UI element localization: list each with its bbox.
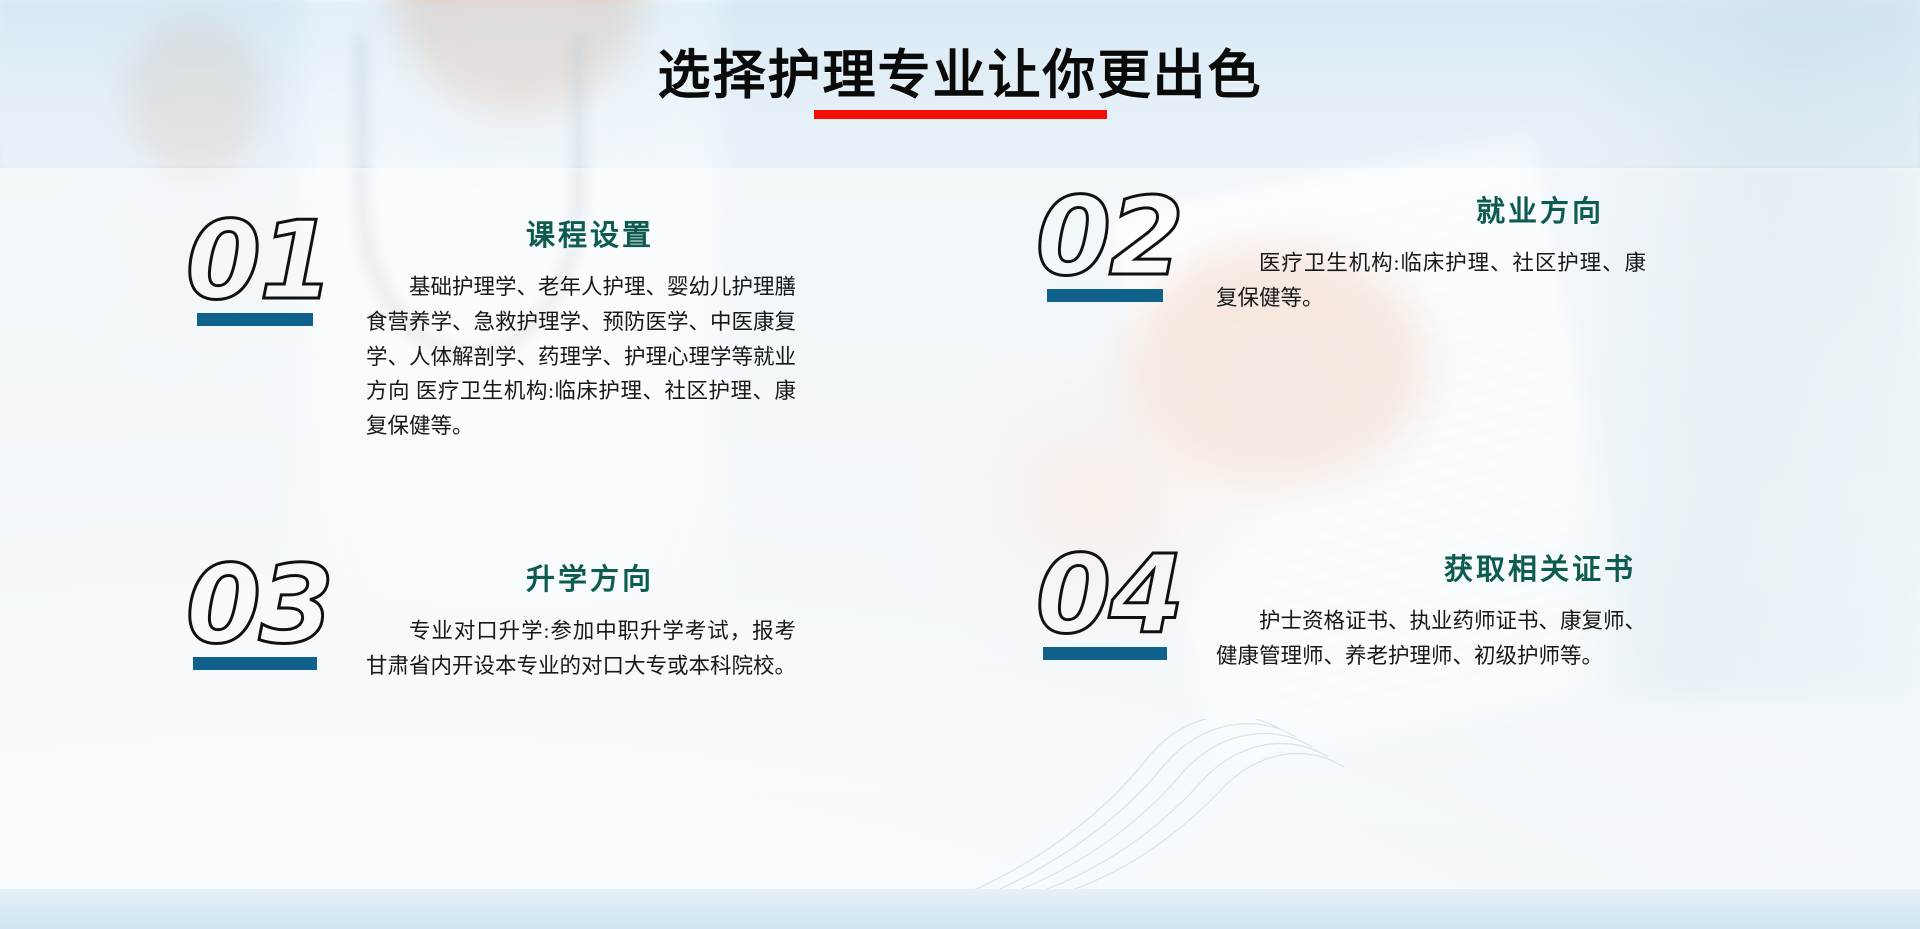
section-text-block-04: 获取相关证书 护士资格证书、执业药师证书、康复师、健康管理师、养老护理师、初级护… bbox=[1216, 546, 1760, 674]
footer-band bbox=[0, 889, 1920, 929]
title-underline-bar bbox=[814, 110, 1107, 119]
section-number-01: 01 bbox=[150, 212, 360, 311]
infographic-poster: 选择护理专业让你更出色 01 课程设置 基础护理学、老年人护理、婴幼儿护理膳食营… bbox=[0, 0, 1920, 929]
section-body-04: 护士资格证书、执业药师证书、康复师、健康管理师、养老护理师、初级护师等。 bbox=[1216, 604, 1646, 674]
title-wrapper: 选择护理专业让你更出色 bbox=[0, 48, 1920, 119]
section-number-04: 04 bbox=[1000, 546, 1210, 645]
section-card-01: 01 课程设置 基础护理学、老年人护理、婴幼儿护理膳食营养学、急救护理学、预防医… bbox=[150, 212, 910, 444]
page-title: 选择护理专业让你更出色 bbox=[658, 48, 1263, 104]
section-text-block-03: 升学方向 专业对口升学:参加中职升学考试，报考甘肃省内开设本专业的对口大专或本科… bbox=[366, 556, 910, 684]
section-number-block-02: 02 bbox=[1000, 188, 1210, 302]
section-card-04: 04 获取相关证书 护士资格证书、执业药师证书、康复师、健康管理师、养老护理师、… bbox=[1000, 546, 1760, 674]
section-heading-02: 就业方向 bbox=[1216, 188, 1760, 230]
section-heading-01: 课程设置 bbox=[366, 212, 910, 254]
section-body-03: 专业对口升学:参加中职升学考试，报考甘肃省内开设本专业的对口大专或本科院校。 bbox=[366, 614, 796, 684]
header: 选择护理专业让你更出色 bbox=[0, 0, 1920, 168]
section-body-01: 基础护理学、老年人护理、婴幼儿护理膳食营养学、急救护理学、预防医学、中医康复学、… bbox=[366, 270, 796, 444]
section-text-block-01: 课程设置 基础护理学、老年人护理、婴幼儿护理膳食营养学、急救护理学、预防医学、中… bbox=[366, 212, 910, 444]
section-number-03: 03 bbox=[150, 556, 360, 655]
sections-grid: 01 课程设置 基础护理学、老年人护理、婴幼儿护理膳食营养学、急救护理学、预防医… bbox=[0, 168, 1920, 889]
section-card-02: 02 就业方向 医疗卫生机构:临床护理、社区护理、康复保健等。 bbox=[1000, 188, 1760, 316]
section-number-block-03: 03 bbox=[150, 556, 360, 670]
section-card-03: 03 升学方向 专业对口升学:参加中职升学考试，报考甘肃省内开设本专业的对口大专… bbox=[150, 556, 910, 684]
section-heading-03: 升学方向 bbox=[366, 556, 910, 598]
section-heading-04: 获取相关证书 bbox=[1216, 546, 1760, 588]
section-body-02: 医疗卫生机构:临床护理、社区护理、康复保健等。 bbox=[1216, 246, 1646, 316]
section-number-block-04: 04 bbox=[1000, 546, 1210, 660]
section-text-block-02: 就业方向 医疗卫生机构:临床护理、社区护理、康复保健等。 bbox=[1216, 188, 1760, 316]
section-number-block-01: 01 bbox=[150, 212, 360, 326]
section-number-02: 02 bbox=[1000, 188, 1210, 287]
